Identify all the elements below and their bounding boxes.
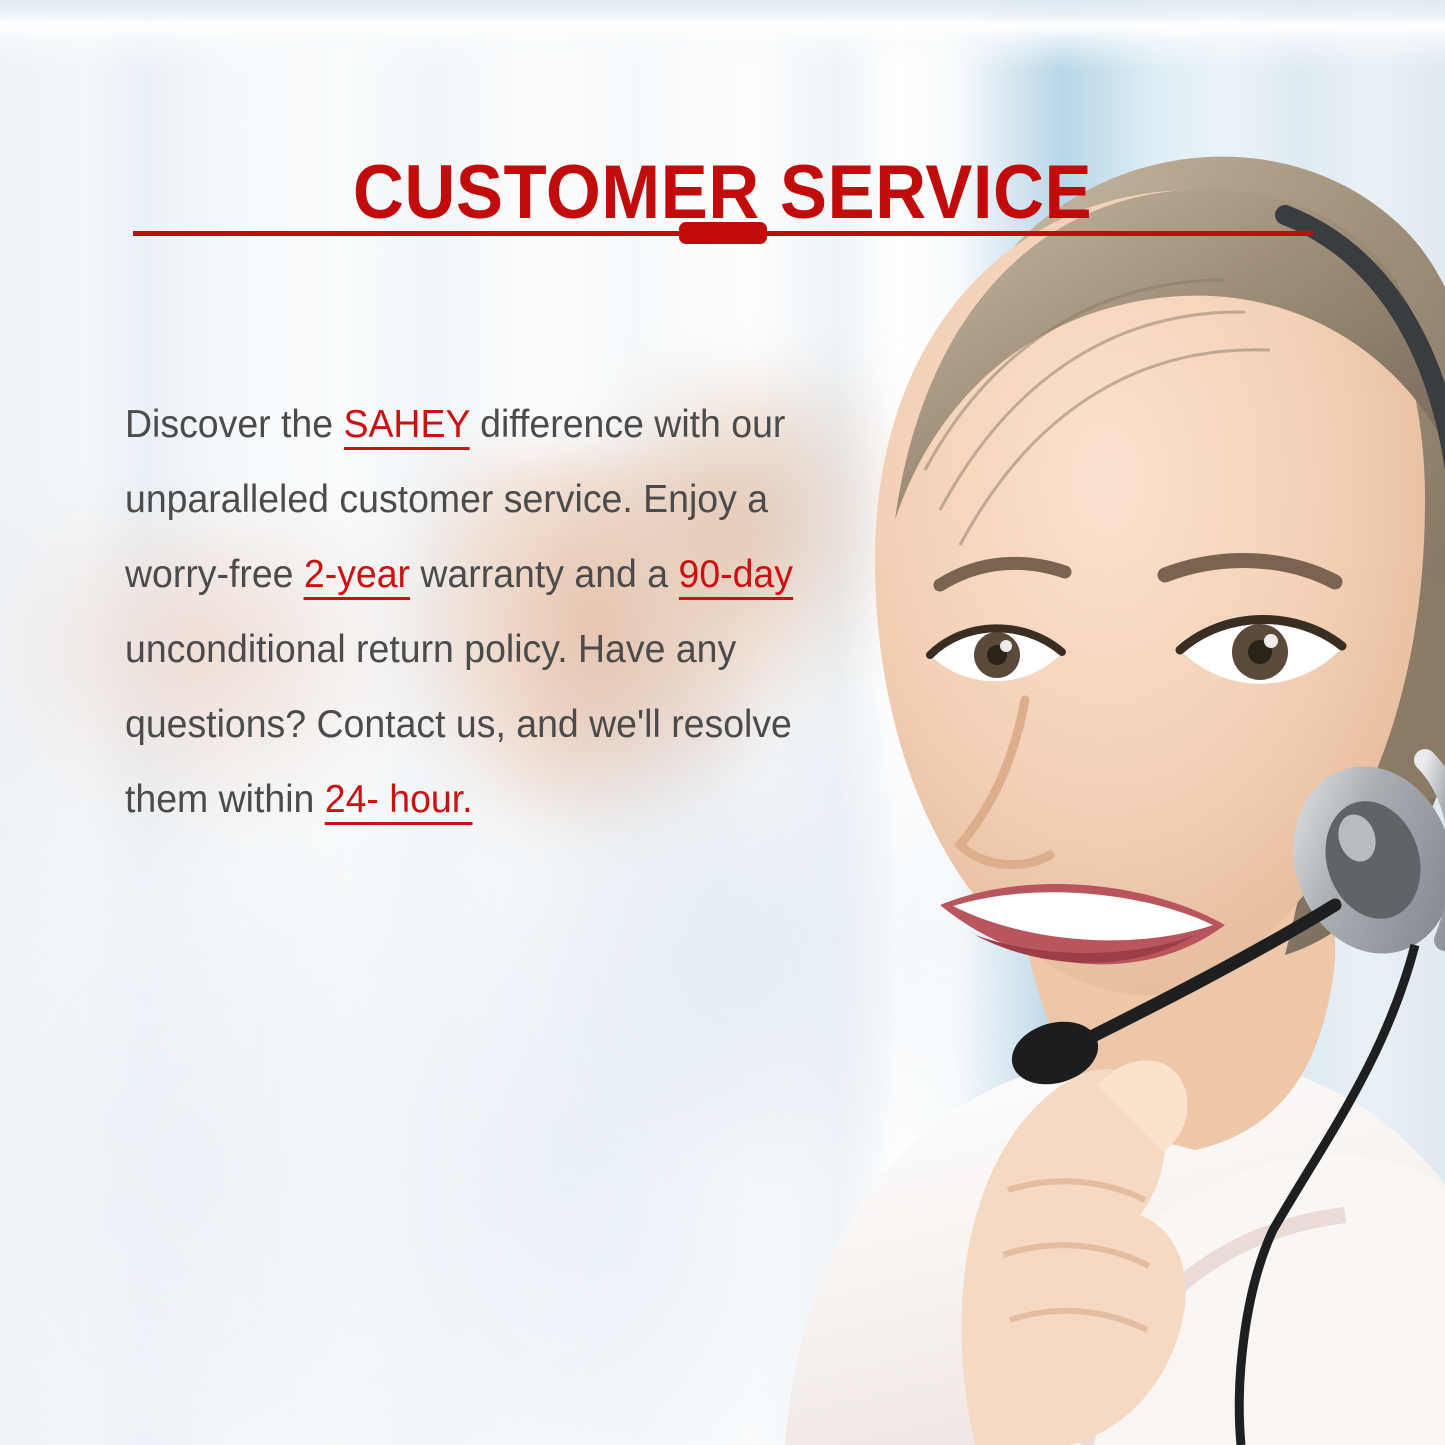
body-copy: Discover the SAHEY difference with our u… (125, 387, 855, 837)
section-divider (133, 222, 1313, 244)
page-title: CUSTOMER SERVICE (51, 155, 1395, 231)
copy-segment-1: Discover the (125, 403, 343, 446)
copy-segment-3: warranty and a (410, 553, 678, 596)
customer-service-banner: CUSTOMER SERVICE Discover the SAHEY diff… (0, 0, 1445, 1445)
brand-name: SAHEY (343, 403, 469, 450)
divider-knob (679, 222, 767, 244)
response-time-term: 24- hour. (325, 778, 473, 825)
return-period-term: 90-day (679, 553, 793, 600)
warranty-term: 2-year (304, 553, 410, 600)
